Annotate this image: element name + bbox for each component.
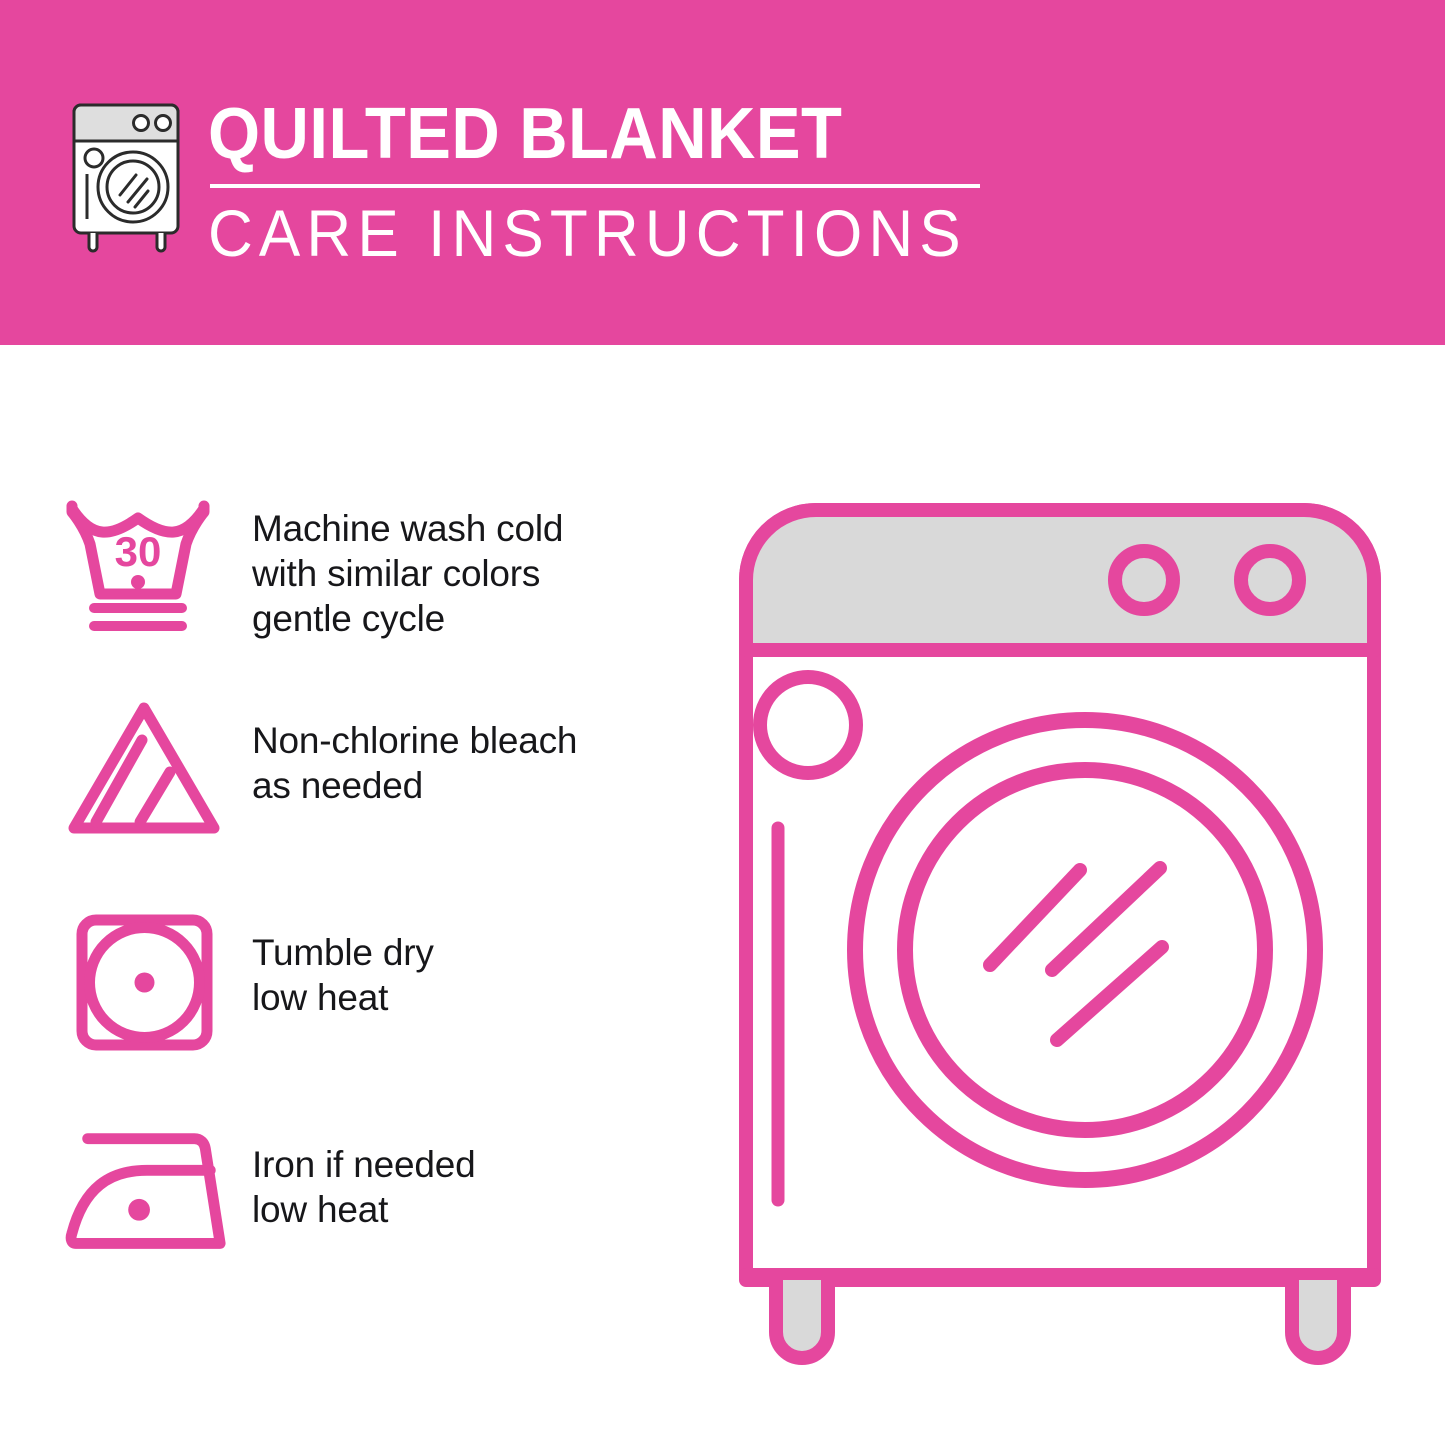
header-content: QUILTED BLANKET CARE INSTRUCTIONS	[62, 95, 1015, 266]
care-icon-slot	[62, 692, 232, 838]
care-row-iron: Iron if needed low heat	[62, 1116, 682, 1328]
care-text-iron: Iron if needed low heat	[232, 1116, 475, 1232]
header-banner: QUILTED BLANKET CARE INSTRUCTIONS	[0, 0, 1445, 345]
care-icon-slot: 30	[62, 480, 232, 636]
care-icon-slot	[62, 1116, 232, 1262]
care-line: gentle cycle	[252, 596, 563, 641]
care-text-wash: Machine wash cold with similar colors ge…	[232, 480, 563, 641]
non-chlorine-bleach-triangle-icon	[62, 698, 227, 838]
care-line: with similar colors	[252, 551, 563, 596]
iron-low-heat-icon	[62, 1122, 232, 1262]
wash-temperature-label: 30	[115, 528, 162, 575]
washing-machine-illustration	[700, 470, 1420, 1380]
care-line: low heat	[252, 975, 434, 1020]
title-divider	[210, 184, 980, 188]
tumble-dry-low-icon	[72, 910, 217, 1055]
care-row-wash: 30 Machine wash cold with similar colors…	[62, 480, 682, 692]
leg-left	[776, 1280, 828, 1358]
washing-machine-icon	[62, 95, 190, 255]
care-icon-slot	[62, 904, 232, 1055]
care-text-tumble-dry: Tumble dry low heat	[232, 904, 434, 1020]
care-row-tumble-dry: Tumble dry low heat	[62, 904, 682, 1116]
care-line: low heat	[252, 1187, 475, 1232]
care-row-bleach: Non-chlorine bleach as needed	[62, 692, 682, 904]
care-line: Machine wash cold	[252, 506, 563, 551]
wash-tub-30-gentle-icon: 30	[62, 486, 214, 636]
care-text-bleach: Non-chlorine bleach as needed	[232, 692, 577, 808]
title-block: QUILTED BLANKET CARE INSTRUCTIONS	[208, 95, 1015, 266]
knob-right[interactable]	[1241, 551, 1299, 609]
care-line: Iron if needed	[252, 1142, 475, 1187]
care-instruction-list: 30 Machine wash cold with similar colors…	[62, 480, 682, 1328]
page-title: QUILTED BLANKET	[208, 99, 959, 170]
leg-right	[1292, 1280, 1344, 1358]
care-instructions-page: QUILTED BLANKET CARE INSTRUCTIONS 30	[0, 0, 1445, 1445]
door-inner-ring	[905, 770, 1265, 1130]
knob-left[interactable]	[1115, 551, 1173, 609]
care-line: Non-chlorine bleach	[252, 718, 577, 763]
care-line: as needed	[252, 763, 577, 808]
detergent-indicator-circle	[760, 677, 856, 773]
page-subtitle: CARE INSTRUCTIONS	[208, 200, 967, 266]
care-line: Tumble dry	[252, 930, 434, 975]
